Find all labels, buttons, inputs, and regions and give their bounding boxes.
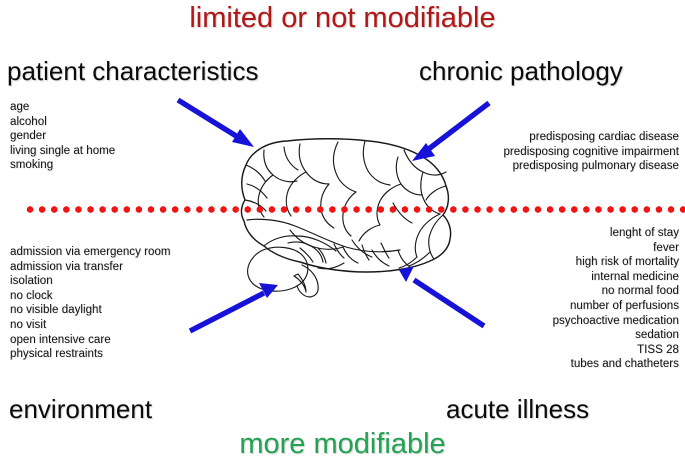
title-more-modifiable: more modifiable <box>0 428 685 461</box>
arrow-top-left-icon <box>178 100 254 147</box>
arrow-bottom-left-icon <box>190 283 278 331</box>
diagram-canvas: limited or not modifiable patient charac… <box>0 0 685 470</box>
arrow-top-right-icon <box>412 103 489 161</box>
red-dotted-divider <box>24 206 685 213</box>
brain-and-arrows-layer <box>0 0 685 470</box>
arrow-bottom-right-icon <box>399 266 484 326</box>
brain-icon <box>241 139 450 297</box>
